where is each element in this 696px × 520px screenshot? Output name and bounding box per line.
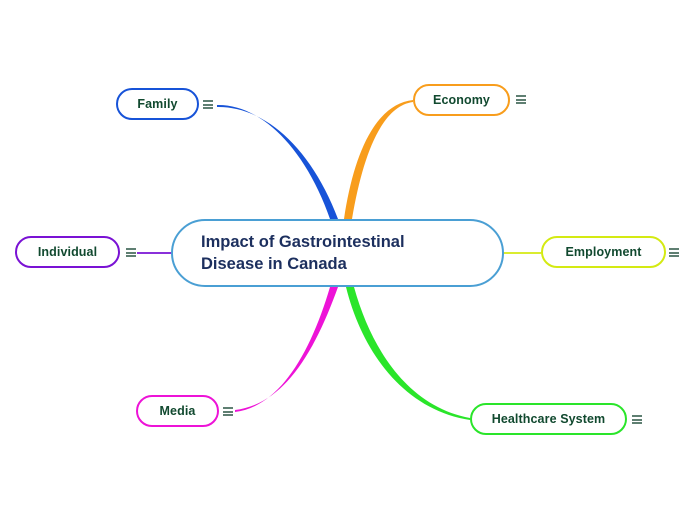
branch-node-family[interactable]: Family (116, 88, 199, 120)
branch-node-healthcare[interactable]: Healthcare System (470, 403, 627, 435)
branch-node-individual[interactable]: Individual (15, 236, 120, 268)
connector-family (217, 105, 338, 219)
branch-node-employment[interactable]: Employment (541, 236, 666, 268)
hamburger-menu-icon-employment[interactable] (669, 248, 679, 257)
branch-label-individual: Individual (38, 246, 97, 259)
hamburger-menu-icon-economy[interactable] (516, 95, 526, 104)
central-node[interactable]: Impact of Gastrointestinal Disease in Ca… (171, 219, 504, 287)
branch-label-media: Media (160, 405, 196, 418)
branch-label-family: Family (137, 98, 177, 111)
central-node-label: Impact of Gastrointestinal Disease in Ca… (201, 231, 405, 276)
hamburger-menu-icon-media[interactable] (223, 407, 233, 416)
branch-label-employment: Employment (565, 246, 641, 259)
branch-label-healthcare: Healthcare System (492, 413, 606, 426)
branch-label-economy: Economy (433, 94, 490, 107)
branch-node-media[interactable]: Media (136, 395, 219, 427)
branch-node-economy[interactable]: Economy (413, 84, 510, 116)
connector-media (235, 287, 338, 412)
connector-healthcare (346, 287, 470, 420)
hamburger-menu-icon-healthcare[interactable] (632, 415, 642, 424)
connector-economy (344, 100, 413, 219)
hamburger-menu-icon-family[interactable] (203, 100, 213, 109)
mindmap-canvas: Impact of Gastrointestinal Disease in Ca… (0, 0, 696, 520)
hamburger-menu-icon-individual[interactable] (126, 248, 136, 257)
